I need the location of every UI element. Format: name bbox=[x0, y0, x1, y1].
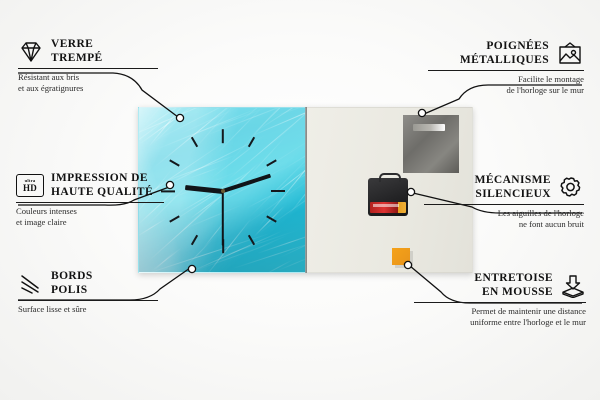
callout-rule bbox=[414, 302, 586, 303]
clock-tick bbox=[271, 190, 285, 192]
diamond-icon bbox=[18, 41, 44, 63]
callout-verre-trempe: VERRE TREMPÉ Résistant aux bris et aux é… bbox=[18, 38, 158, 95]
gear-icon bbox=[558, 176, 584, 200]
callout-title-text: POIGNÉES MÉTALLIQUES bbox=[460, 40, 549, 67]
callout-title-row: ENTRETOISE EN MOUSSE bbox=[414, 272, 586, 299]
callout-title-row: ultra HD IMPRESSION DE HAUTE QUALITÉ bbox=[16, 172, 164, 199]
infographic-stage: VERRE TREMPÉ Résistant aux bris et aux é… bbox=[0, 0, 600, 400]
callout-title-row: MÉCANISME SILENCIEUX bbox=[424, 174, 584, 201]
hanger-slot bbox=[413, 124, 445, 131]
callout-rule bbox=[16, 202, 164, 203]
battery bbox=[370, 202, 406, 213]
foam-spacer-pad bbox=[392, 248, 410, 265]
metal-hanger-plate bbox=[403, 115, 459, 173]
callout-rule bbox=[428, 70, 584, 71]
callout-subtitle: Surface lisse et sûre bbox=[18, 304, 158, 315]
callout-title-text: ENTRETOISE EN MOUSSE bbox=[474, 272, 553, 299]
second-hand bbox=[222, 191, 224, 246]
callout-subtitle: Couleurs intenses et image claire bbox=[16, 206, 164, 229]
callout-title-row: BORDS POLIS bbox=[18, 270, 158, 297]
ultra-hd-icon: ultra HD bbox=[16, 174, 44, 197]
callout-entretoise-mousse: ENTRETOISE EN MOUSSE Permet de maintenir… bbox=[414, 272, 586, 329]
foam-spacer-icon bbox=[560, 274, 586, 298]
callout-mecanisme-silencieux: MÉCANISME SILENCIEUX Les aiguilles de l'… bbox=[424, 174, 584, 231]
callout-title-text: MÉCANISME SILENCIEUX bbox=[475, 174, 551, 201]
callout-title-text: BORDS POLIS bbox=[51, 270, 93, 297]
callout-title-text: VERRE TREMPÉ bbox=[51, 38, 103, 65]
clock-mechanism-box bbox=[368, 178, 408, 216]
mechanism-hook bbox=[379, 173, 401, 182]
callout-title-row: POIGNÉES MÉTALLIQUES bbox=[428, 40, 584, 67]
callout-subtitle: Facilite le montage de l'horloge sur le … bbox=[428, 74, 584, 97]
ultra-hd-large-text: HD bbox=[23, 184, 37, 193]
callout-subtitle: Permet de maintenir une distance uniform… bbox=[414, 306, 586, 329]
callout-impression-hd: ultra HD IMPRESSION DE HAUTE QUALITÉ Cou… bbox=[16, 172, 164, 229]
callout-rule bbox=[424, 204, 584, 205]
callout-title-text: IMPRESSION DE HAUTE QUALITÉ bbox=[51, 172, 153, 199]
clock-tick bbox=[222, 129, 224, 143]
callout-subtitle: Résistant aux bris et aux égratignures bbox=[18, 72, 158, 95]
polished-edges-icon bbox=[18, 273, 44, 295]
hanging-frame-icon bbox=[556, 42, 584, 66]
callout-subtitle: Les aiguilles de l'horloge ne font aucun… bbox=[424, 208, 584, 231]
callout-title-row: VERRE TREMPÉ bbox=[18, 38, 158, 65]
callout-rule bbox=[18, 300, 158, 301]
callout-bords-polis: BORDS POLIS Surface lisse et sûre bbox=[18, 270, 158, 315]
callout-poignees-metalliques: POIGNÉES MÉTALLIQUES Facilite le montage… bbox=[428, 40, 584, 97]
battery-label bbox=[373, 204, 399, 207]
callout-rule bbox=[18, 68, 158, 69]
panel-seam bbox=[305, 107, 307, 273]
clock-center-hub bbox=[221, 189, 225, 193]
